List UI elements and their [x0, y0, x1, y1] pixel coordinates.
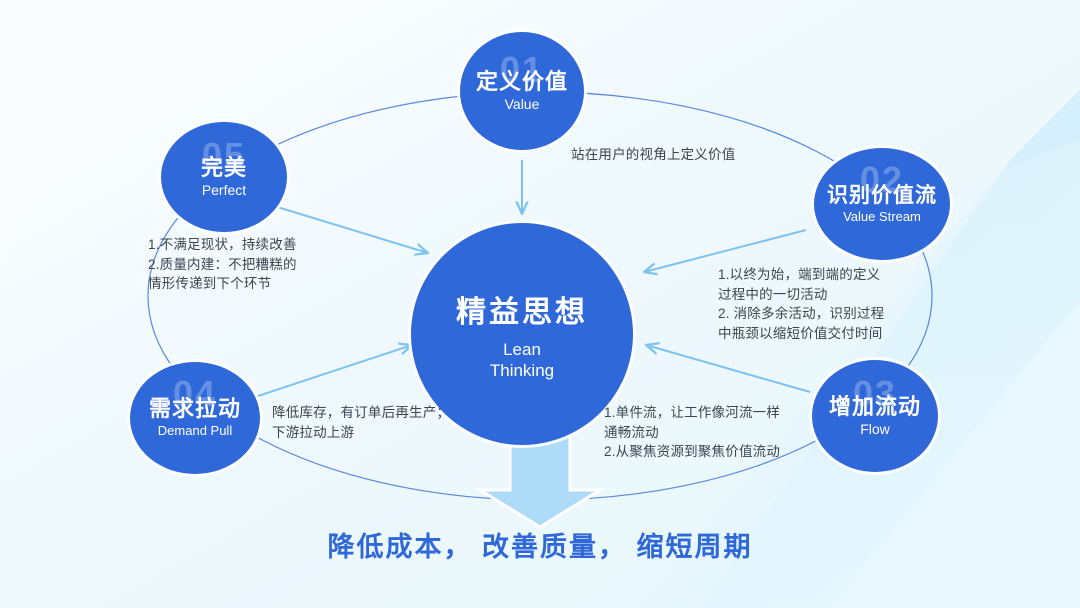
hub-title-en-line1: Lean	[490, 339, 554, 360]
arrow-demandpull-to-hub	[252, 345, 412, 398]
node-label-zh-01: 定义价值	[476, 70, 568, 94]
node-flow[interactable]: 03 增加流动 Flow	[812, 360, 938, 472]
node-define-value[interactable]: 01 定义价值 Value	[460, 32, 584, 150]
node-label-en-05: Perfect	[202, 182, 246, 199]
node-label-en-02: Value Stream	[843, 209, 921, 225]
node-label-en-03: Flow	[860, 421, 890, 438]
note-perfect: 1.不满足现状，持续改善 2.质量内建：不把糟糕的 情形传递到下个环节	[148, 235, 297, 294]
note-flow: 1.单件流，让工作像河流一样 通畅流动 2.从聚焦资源到聚焦价值流动	[604, 403, 780, 462]
hub-title-zh: 精益思想	[456, 287, 588, 331]
outcome-statement: 降低成本， 改善质量， 缩短周期	[0, 525, 1080, 564]
hub-title-en: Lean Thinking	[490, 339, 554, 382]
hub-title-en-line2: Thinking	[490, 360, 554, 381]
note-value-stream: 1.以终为始，端到端的定义 过程中的一切活动 2. 消除多余活动，识别过程 中瓶…	[718, 265, 884, 343]
node-label-zh-04: 需求拉动	[149, 397, 241, 421]
arrow-perfect-to-hub	[274, 206, 428, 253]
node-label-en-01: Value	[505, 96, 540, 113]
node-demand-pull[interactable]: 04 需求拉动 Demand Pull	[130, 362, 260, 474]
node-label-zh-05: 完美	[201, 156, 247, 180]
note-demand-pull: 降低库存，有订单后再生产； 下游拉动上游	[272, 403, 450, 442]
note-define-value: 站在用户的视角上定义价值	[571, 145, 735, 165]
lean-thinking-diagram: 精益思想 Lean Thinking 01 定义价值 Value 02 识别价值…	[0, 0, 1080, 608]
node-value-stream[interactable]: 02 识别价值流 Value Stream	[814, 148, 950, 260]
node-label-zh-03: 增加流动	[829, 395, 921, 419]
arrow-flow-to-hub	[646, 345, 810, 392]
node-label-en-04: Demand Pull	[158, 423, 232, 439]
node-label-zh-02: 识别价值流	[827, 184, 937, 207]
node-perfect[interactable]: 05 完美 Perfect	[161, 122, 287, 232]
